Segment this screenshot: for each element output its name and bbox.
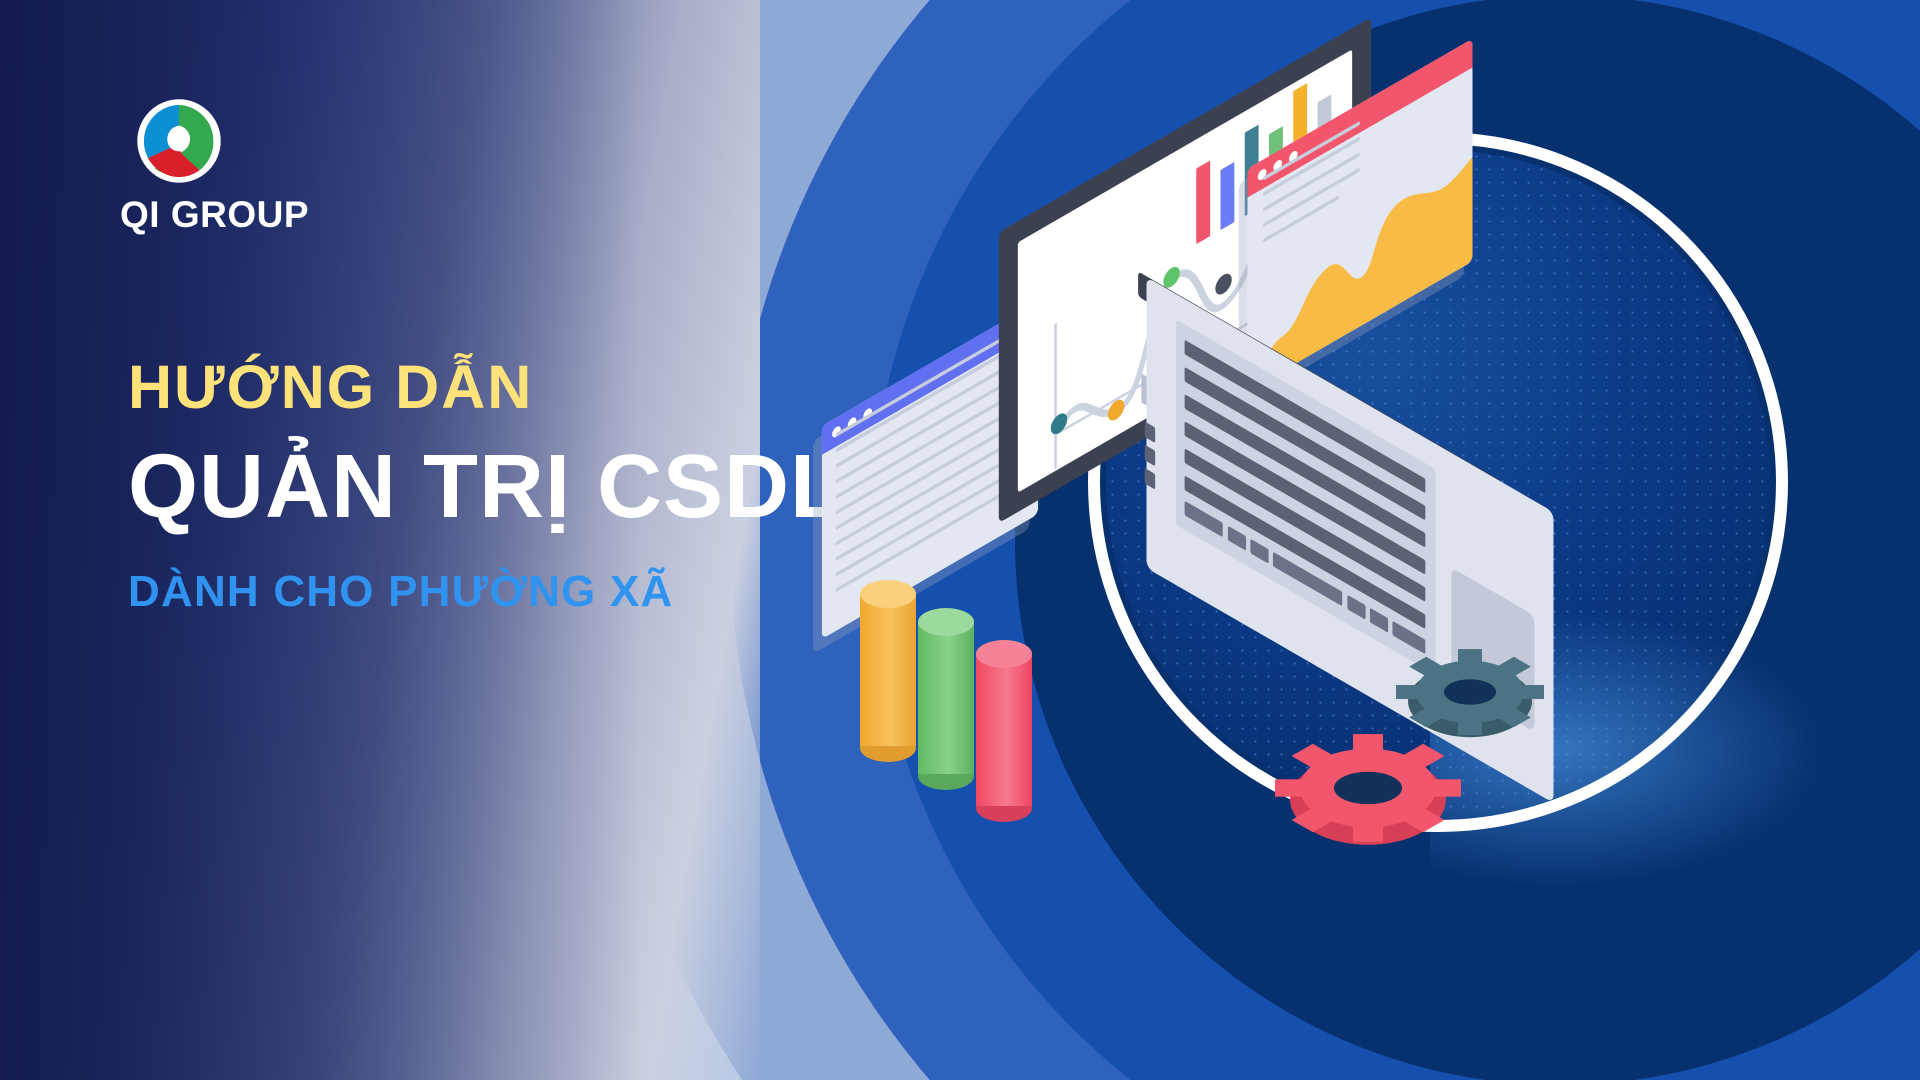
bar-pink: [976, 640, 1032, 820]
headline-line-2: QUẢN TRỊ CSDL: [128, 437, 888, 538]
bar-green: [918, 608, 974, 788]
brand-name: QI GROUP: [120, 194, 330, 236]
pinwheel-circle-logo-icon: [136, 98, 222, 184]
headline-line-3: DÀNH CHO PHƯỜNG XÃ: [128, 568, 888, 616]
gear-pink-icon: [1268, 700, 1468, 885]
laptop-ports: [1145, 422, 1157, 507]
headline-block: HƯỚNG DẪN QUẢN TRỊ CSDL DÀNH CHO PHƯỜNG …: [128, 355, 888, 616]
headline-line-1: HƯỚNG DẪN: [128, 355, 888, 419]
isometric-laptop-illustration: [960, 60, 1920, 1020]
banner-canvas: QI GROUP HƯỚNG DẪN QUẢN TRỊ CSDL DÀNH CH…: [0, 0, 1920, 1080]
bar-yellow: [860, 580, 916, 760]
brand-logo: QI GROUP: [120, 98, 330, 236]
